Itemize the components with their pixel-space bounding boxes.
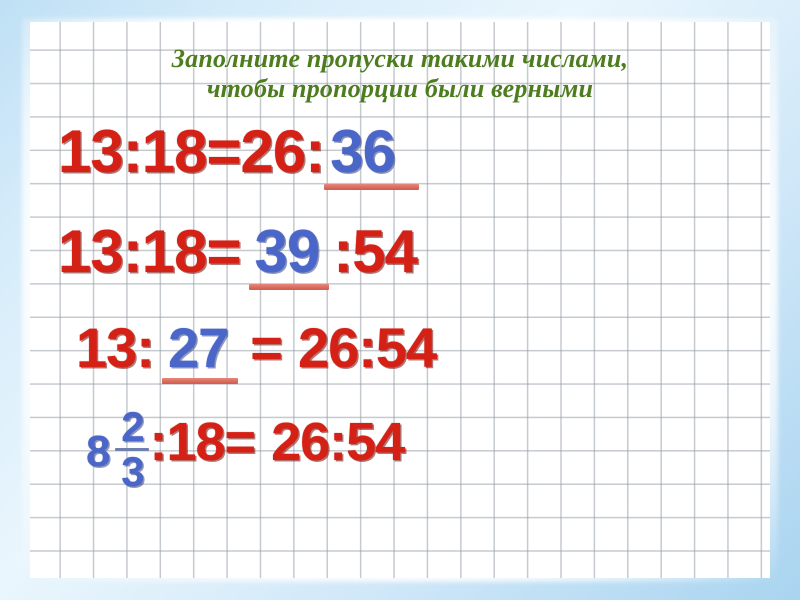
colon-separator: : <box>149 415 166 469</box>
colon-separator: : <box>358 320 376 376</box>
colon-separator: : <box>123 222 142 282</box>
page-title: Заполните пропуски такими числами, чтобы… <box>50 44 750 104</box>
equation-row-4: 8 2 3 : 18 = 26 : 54 <box>86 404 404 487</box>
colon-separator: : <box>305 122 324 182</box>
term-c: 26 <box>298 320 358 376</box>
equation-row-1: 13 : 18 = 26 : 36 <box>58 122 401 182</box>
equation-row-3: 13 : 27 = 26 : 54 <box>76 320 436 376</box>
term-c: 26 <box>271 415 329 469</box>
equation-row-2: 13 : 18 = 39 : 54 <box>58 222 417 282</box>
equals-sign: = <box>250 320 282 376</box>
answer-blank-1[interactable]: 36 <box>324 122 401 182</box>
term-d: 54 <box>352 222 417 282</box>
fraction-denominator: 3 <box>121 453 143 491</box>
title-line-2: чтобы пропорции были верными <box>50 74 750 104</box>
equals-sign: = <box>206 122 240 182</box>
term-b: 18 <box>142 122 207 182</box>
slide-content: Заполните пропуски такими числами, чтобы… <box>0 0 800 600</box>
mixed-whole-part: 8 <box>86 430 109 474</box>
term-a: 13 <box>58 222 123 282</box>
slide-canvas: Заполните пропуски такими числами, чтобы… <box>0 0 800 600</box>
term-b: 18 <box>166 415 224 469</box>
term-a: 13 <box>76 320 136 376</box>
colon-separator: : <box>333 222 352 282</box>
colon-separator: : <box>136 320 154 376</box>
fraction: 2 3 <box>115 408 149 491</box>
fraction-numerator: 2 <box>121 408 143 446</box>
equals-sign: = <box>206 222 240 282</box>
equals-sign: = <box>225 415 256 469</box>
colon-separator: : <box>123 122 142 182</box>
title-line-1: Заполните пропуски такими числами, <box>50 44 750 74</box>
answer-blank-2[interactable]: 39 <box>249 222 326 282</box>
term-d: 54 <box>346 415 404 469</box>
answer-mixed-number-4[interactable]: 8 2 3 <box>86 404 149 487</box>
term-b: 18 <box>142 222 207 282</box>
term-a: 13 <box>58 122 123 182</box>
answer-blank-3[interactable]: 27 <box>162 320 234 376</box>
colon-separator: : <box>329 415 346 469</box>
term-c: 26 <box>241 122 306 182</box>
term-d: 54 <box>376 320 436 376</box>
